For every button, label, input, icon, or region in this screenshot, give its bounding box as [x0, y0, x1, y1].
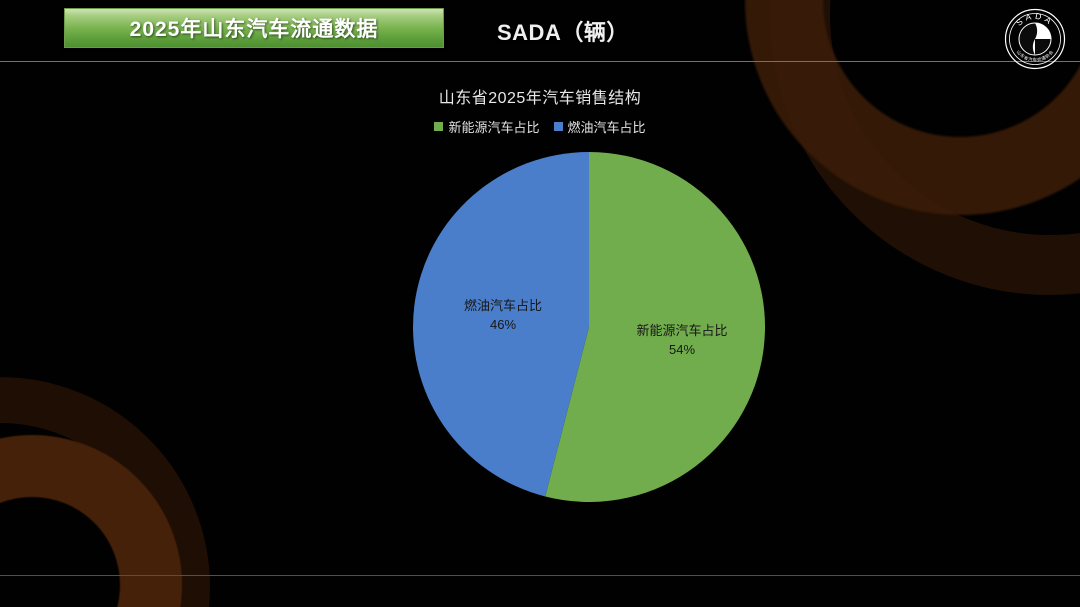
- footer-divider: [0, 575, 1080, 576]
- pie-label-fuel-percent: 46%: [448, 316, 558, 335]
- legend-swatch-nev: [434, 122, 443, 131]
- header-divider: [0, 61, 1080, 62]
- legend-label-nev: 新能源汽车占比: [448, 117, 539, 136]
- title-plate: 2025年山东汽车流通数据: [64, 8, 444, 48]
- legend-swatch-fuel: [554, 122, 563, 131]
- legend-label-fuel: 燃油汽车占比: [568, 117, 646, 136]
- pie-label-fuel: 燃油汽车占比 46%: [448, 297, 558, 335]
- slide-canvas: 2025年山东汽车流通数据 SADA（辆） SADA 山东省汽车流通协会 山东省…: [0, 0, 1080, 607]
- decorative-arc-bottom-left: [0, 435, 182, 607]
- pie-label-nev-percent: 54%: [618, 341, 746, 360]
- pie-label-nev-name: 新能源汽车占比: [618, 322, 746, 341]
- page-title: 2025年山东汽车流通数据: [130, 13, 379, 43]
- sada-logo-icon: SADA 山东省汽车流通协会: [1004, 8, 1066, 70]
- pie-label-nev: 新能源汽车占比 54%: [618, 322, 746, 360]
- legend-item-nev: 新能源汽车占比: [434, 117, 539, 136]
- chart-legend: 新能源汽车占比 燃油汽车占比: [0, 117, 1080, 136]
- pie-label-fuel-name: 燃油汽车占比: [448, 297, 558, 316]
- chart-title: 山东省2025年汽车销售结构: [0, 84, 1080, 108]
- sada-logo: SADA 山东省汽车流通协会: [1004, 8, 1066, 70]
- legend-item-fuel: 燃油汽车占比: [554, 117, 646, 136]
- unit-label: SADA（辆）: [497, 15, 629, 47]
- decorative-arc-bottom-left-outer: [0, 377, 210, 607]
- header-band: 2025年山东汽车流通数据 SADA（辆）: [0, 0, 1080, 61]
